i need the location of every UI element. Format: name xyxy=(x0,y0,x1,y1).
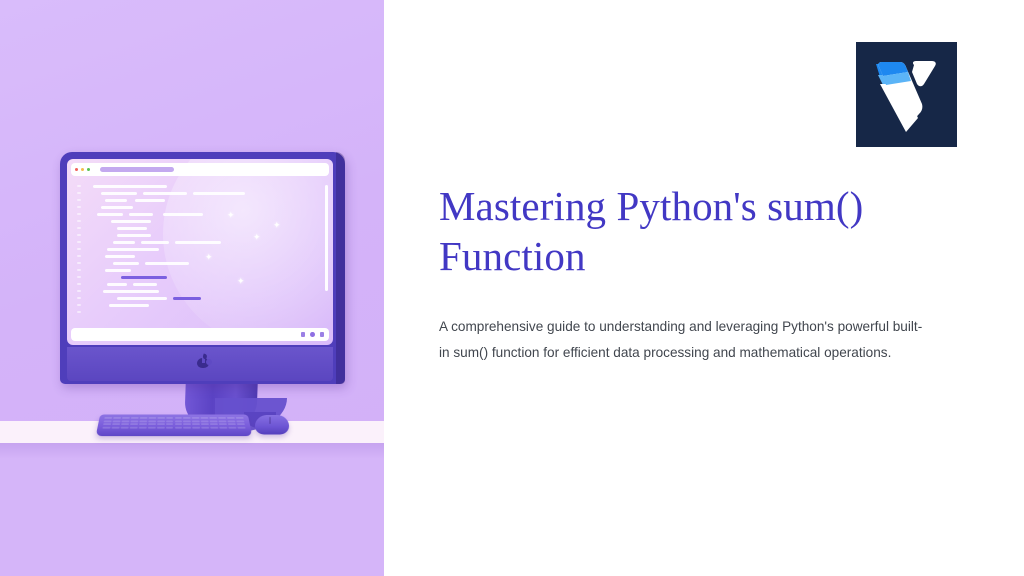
keyboard-key xyxy=(130,423,138,425)
line-number-tick xyxy=(77,248,81,250)
keyboard-key xyxy=(121,423,129,425)
keyboard-key xyxy=(121,420,129,422)
line-number-tick xyxy=(77,311,81,313)
keyboard-key xyxy=(139,417,147,419)
sparkle-icon: ✦ xyxy=(227,211,235,220)
keyboard-key xyxy=(227,420,235,422)
code-line xyxy=(117,227,147,230)
keyboard-key xyxy=(111,426,119,428)
address-bar xyxy=(100,167,174,172)
keyboard-key xyxy=(175,417,183,419)
browser-title-bar xyxy=(71,163,329,176)
keyboard-key xyxy=(166,423,174,425)
computer-monitor: ✦✦✦✦✦ xyxy=(60,152,345,384)
keyboard-key xyxy=(131,417,139,419)
keyboard-key xyxy=(218,417,226,419)
sparkle-icon: ✦ xyxy=(253,233,261,242)
keyboard-key xyxy=(201,417,209,419)
code-line xyxy=(193,192,245,195)
line-number-tick xyxy=(77,199,81,201)
keyboard-key xyxy=(148,417,156,419)
keyboard-key xyxy=(102,426,110,428)
monitor-screen: ✦✦✦✦✦ xyxy=(67,159,333,345)
code-line xyxy=(117,297,167,300)
code-line xyxy=(111,220,151,223)
keyboard-key xyxy=(112,423,120,425)
line-number-tick xyxy=(77,185,81,187)
line-number-tick xyxy=(77,297,81,299)
floor-surface xyxy=(0,443,384,576)
keyboard-key xyxy=(147,426,155,428)
keyboard-key xyxy=(104,417,112,419)
keyboard-key xyxy=(175,423,183,425)
keyboard-key xyxy=(129,426,137,428)
code-line xyxy=(175,241,221,244)
window-maximize-dot-icon xyxy=(87,168,90,171)
keyboard-key xyxy=(210,423,218,425)
editor-scrollbar xyxy=(325,185,328,291)
line-number-tick xyxy=(77,227,81,229)
keyboard-key xyxy=(192,420,200,422)
keyboard-key xyxy=(183,423,191,425)
keyboard-key xyxy=(103,423,111,425)
line-number-tick xyxy=(77,255,81,257)
keyboard-key xyxy=(175,426,183,428)
keyboard-key xyxy=(201,420,209,422)
code-line xyxy=(97,213,123,216)
keyboard-key xyxy=(139,420,147,422)
sparkle-icon: ✦ xyxy=(273,221,281,230)
keyboard-key xyxy=(219,426,227,428)
keyboard-key xyxy=(210,420,218,422)
keyboard-key xyxy=(236,420,244,422)
code-line-highlighted xyxy=(173,297,201,300)
keyboard-key xyxy=(156,426,164,428)
code-line xyxy=(101,206,133,209)
keyboard-key xyxy=(122,417,130,419)
line-number-tick xyxy=(77,283,81,285)
line-number-tick xyxy=(77,276,81,278)
content-panel: Mastering Python's sum() Function A comp… xyxy=(384,0,1024,576)
code-line xyxy=(105,199,127,202)
keyboard-key xyxy=(237,426,245,428)
code-line xyxy=(117,234,151,237)
line-number-tick xyxy=(77,234,81,236)
keyboard-key xyxy=(227,417,235,419)
line-number-tick xyxy=(77,192,81,194)
keyboard-key xyxy=(166,417,174,419)
keyboard-key xyxy=(120,426,128,428)
keyboard-key xyxy=(228,423,236,425)
brand-logo-svg xyxy=(856,42,957,147)
code-line xyxy=(163,213,203,216)
code-line xyxy=(129,213,153,216)
window-minimize-dot-icon xyxy=(81,168,84,171)
line-number-tick xyxy=(77,269,81,271)
keyboard-key xyxy=(210,417,218,419)
keyboard-key xyxy=(192,426,200,428)
sparkle-icon: ✦ xyxy=(205,253,213,262)
keyboard-key xyxy=(210,426,218,428)
keyboard-key xyxy=(219,420,227,422)
line-number-tick xyxy=(77,290,81,292)
line-number-tick xyxy=(77,304,81,306)
brand-logo-v-icon xyxy=(856,42,957,147)
keyboard-key xyxy=(138,426,146,428)
keyboard xyxy=(96,415,253,437)
line-number-tick xyxy=(77,262,81,264)
keyboard-keys xyxy=(102,417,245,429)
mouse xyxy=(255,415,290,434)
line-number-tick xyxy=(77,241,81,243)
keyboard-key xyxy=(183,420,191,422)
code-line xyxy=(107,283,127,286)
editor-status-bar xyxy=(71,328,329,341)
keyboard-key xyxy=(228,426,236,428)
keyboard-key xyxy=(192,423,200,425)
keyboard-key xyxy=(166,420,174,422)
keyboard-key xyxy=(201,426,209,428)
keyboard-key xyxy=(157,420,165,422)
monitor-chin xyxy=(67,347,333,381)
code-line xyxy=(101,192,137,195)
keyboard-key xyxy=(130,420,138,422)
keyboard-key xyxy=(148,420,156,422)
code-line xyxy=(141,241,169,244)
keyboard-key xyxy=(148,423,156,425)
keyboard-key xyxy=(237,423,245,425)
keyboard-key xyxy=(175,420,183,422)
keyboard-key xyxy=(236,417,244,419)
line-number-tick xyxy=(77,206,81,208)
keyboard-key xyxy=(157,417,165,419)
keyboard-key xyxy=(112,420,120,422)
apple-logo-icon xyxy=(197,354,209,368)
line-number-tick xyxy=(77,220,81,222)
code-line xyxy=(145,262,189,265)
keyboard-key xyxy=(201,423,209,425)
page-subtitle: A comprehensive guide to understanding a… xyxy=(439,314,924,366)
code-line xyxy=(133,283,157,286)
page-title: Mastering Python's sum() Function xyxy=(439,182,969,281)
window-close-dot-icon xyxy=(75,168,78,171)
code-line-highlighted xyxy=(121,276,167,279)
keyboard-key xyxy=(166,426,174,428)
keyboard-key xyxy=(183,417,191,419)
floor-shadow xyxy=(0,443,384,459)
code-line xyxy=(113,262,139,265)
code-line xyxy=(105,255,135,258)
illustration-panel: ✦✦✦✦✦ xyxy=(0,0,384,576)
code-line xyxy=(93,185,167,188)
status-icon-left xyxy=(301,332,306,337)
keyboard-key xyxy=(219,423,227,425)
keyboard-key xyxy=(157,423,165,425)
line-number-tick xyxy=(77,213,81,215)
keyboard-key xyxy=(113,417,121,419)
code-line xyxy=(107,248,159,251)
code-line xyxy=(105,269,131,272)
status-icon-middle xyxy=(310,332,315,337)
code-line xyxy=(103,290,159,293)
code-line xyxy=(113,241,135,244)
code-line xyxy=(135,199,165,202)
keyboard-key xyxy=(104,420,112,422)
code-line xyxy=(109,304,149,307)
slide-root: ✦✦✦✦✦ xyxy=(0,0,1024,576)
code-line xyxy=(143,192,187,195)
keyboard-key xyxy=(184,426,192,428)
sparkle-icon: ✦ xyxy=(237,277,245,286)
status-icon-right xyxy=(320,332,325,337)
keyboard-key xyxy=(139,423,147,425)
code-editor-content: ✦✦✦✦✦ xyxy=(77,181,327,321)
keyboard-key xyxy=(192,417,200,419)
